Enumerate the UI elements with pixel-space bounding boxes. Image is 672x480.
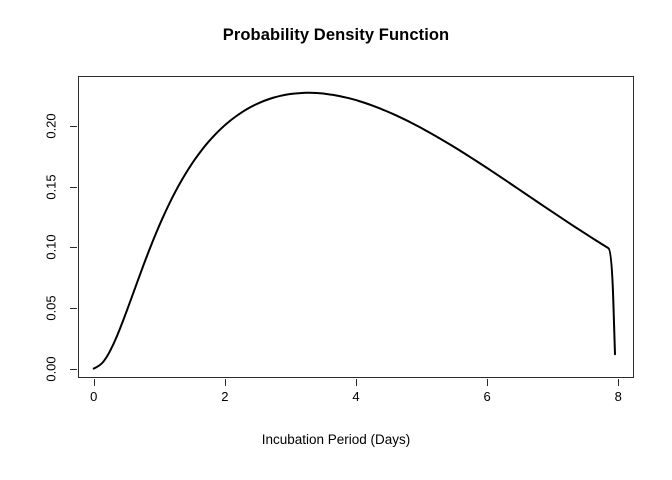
x-tick-mark — [356, 379, 357, 386]
plot-area: 0.000.050.100.150.20 02468 — [78, 76, 634, 378]
y-tick-mark — [70, 308, 77, 309]
y-tick-label: 0.10 — [44, 235, 59, 260]
x-tick-mark — [225, 379, 226, 386]
x-tick-label: 8 — [615, 389, 622, 404]
y-tick-label: 0.20 — [44, 113, 59, 138]
x-axis-label: Incubation Period (Days) — [0, 432, 672, 447]
x-tick-mark — [487, 379, 488, 386]
x-tick-label: 4 — [352, 389, 359, 404]
density-curve-path — [94, 93, 615, 369]
density-curve-svg — [78, 76, 634, 378]
y-tick-mark — [70, 126, 77, 127]
x-tick-mark — [618, 379, 619, 386]
x-tick-label: 6 — [484, 389, 491, 404]
y-tick-mark — [70, 247, 77, 248]
x-tick-mark — [94, 379, 95, 386]
x-tick-label: 0 — [90, 389, 97, 404]
page-title: Probability Density Function — [0, 26, 672, 45]
x-tick-label: 2 — [221, 389, 228, 404]
y-tick-label: 0.05 — [44, 295, 59, 320]
y-tick-label: 0.00 — [44, 356, 59, 381]
y-tick-mark — [70, 187, 77, 188]
y-tick-mark — [70, 369, 77, 370]
y-tick-label: 0.15 — [44, 174, 59, 199]
chart-figure: Probability Density Function 0.000.050.1… — [0, 0, 672, 480]
